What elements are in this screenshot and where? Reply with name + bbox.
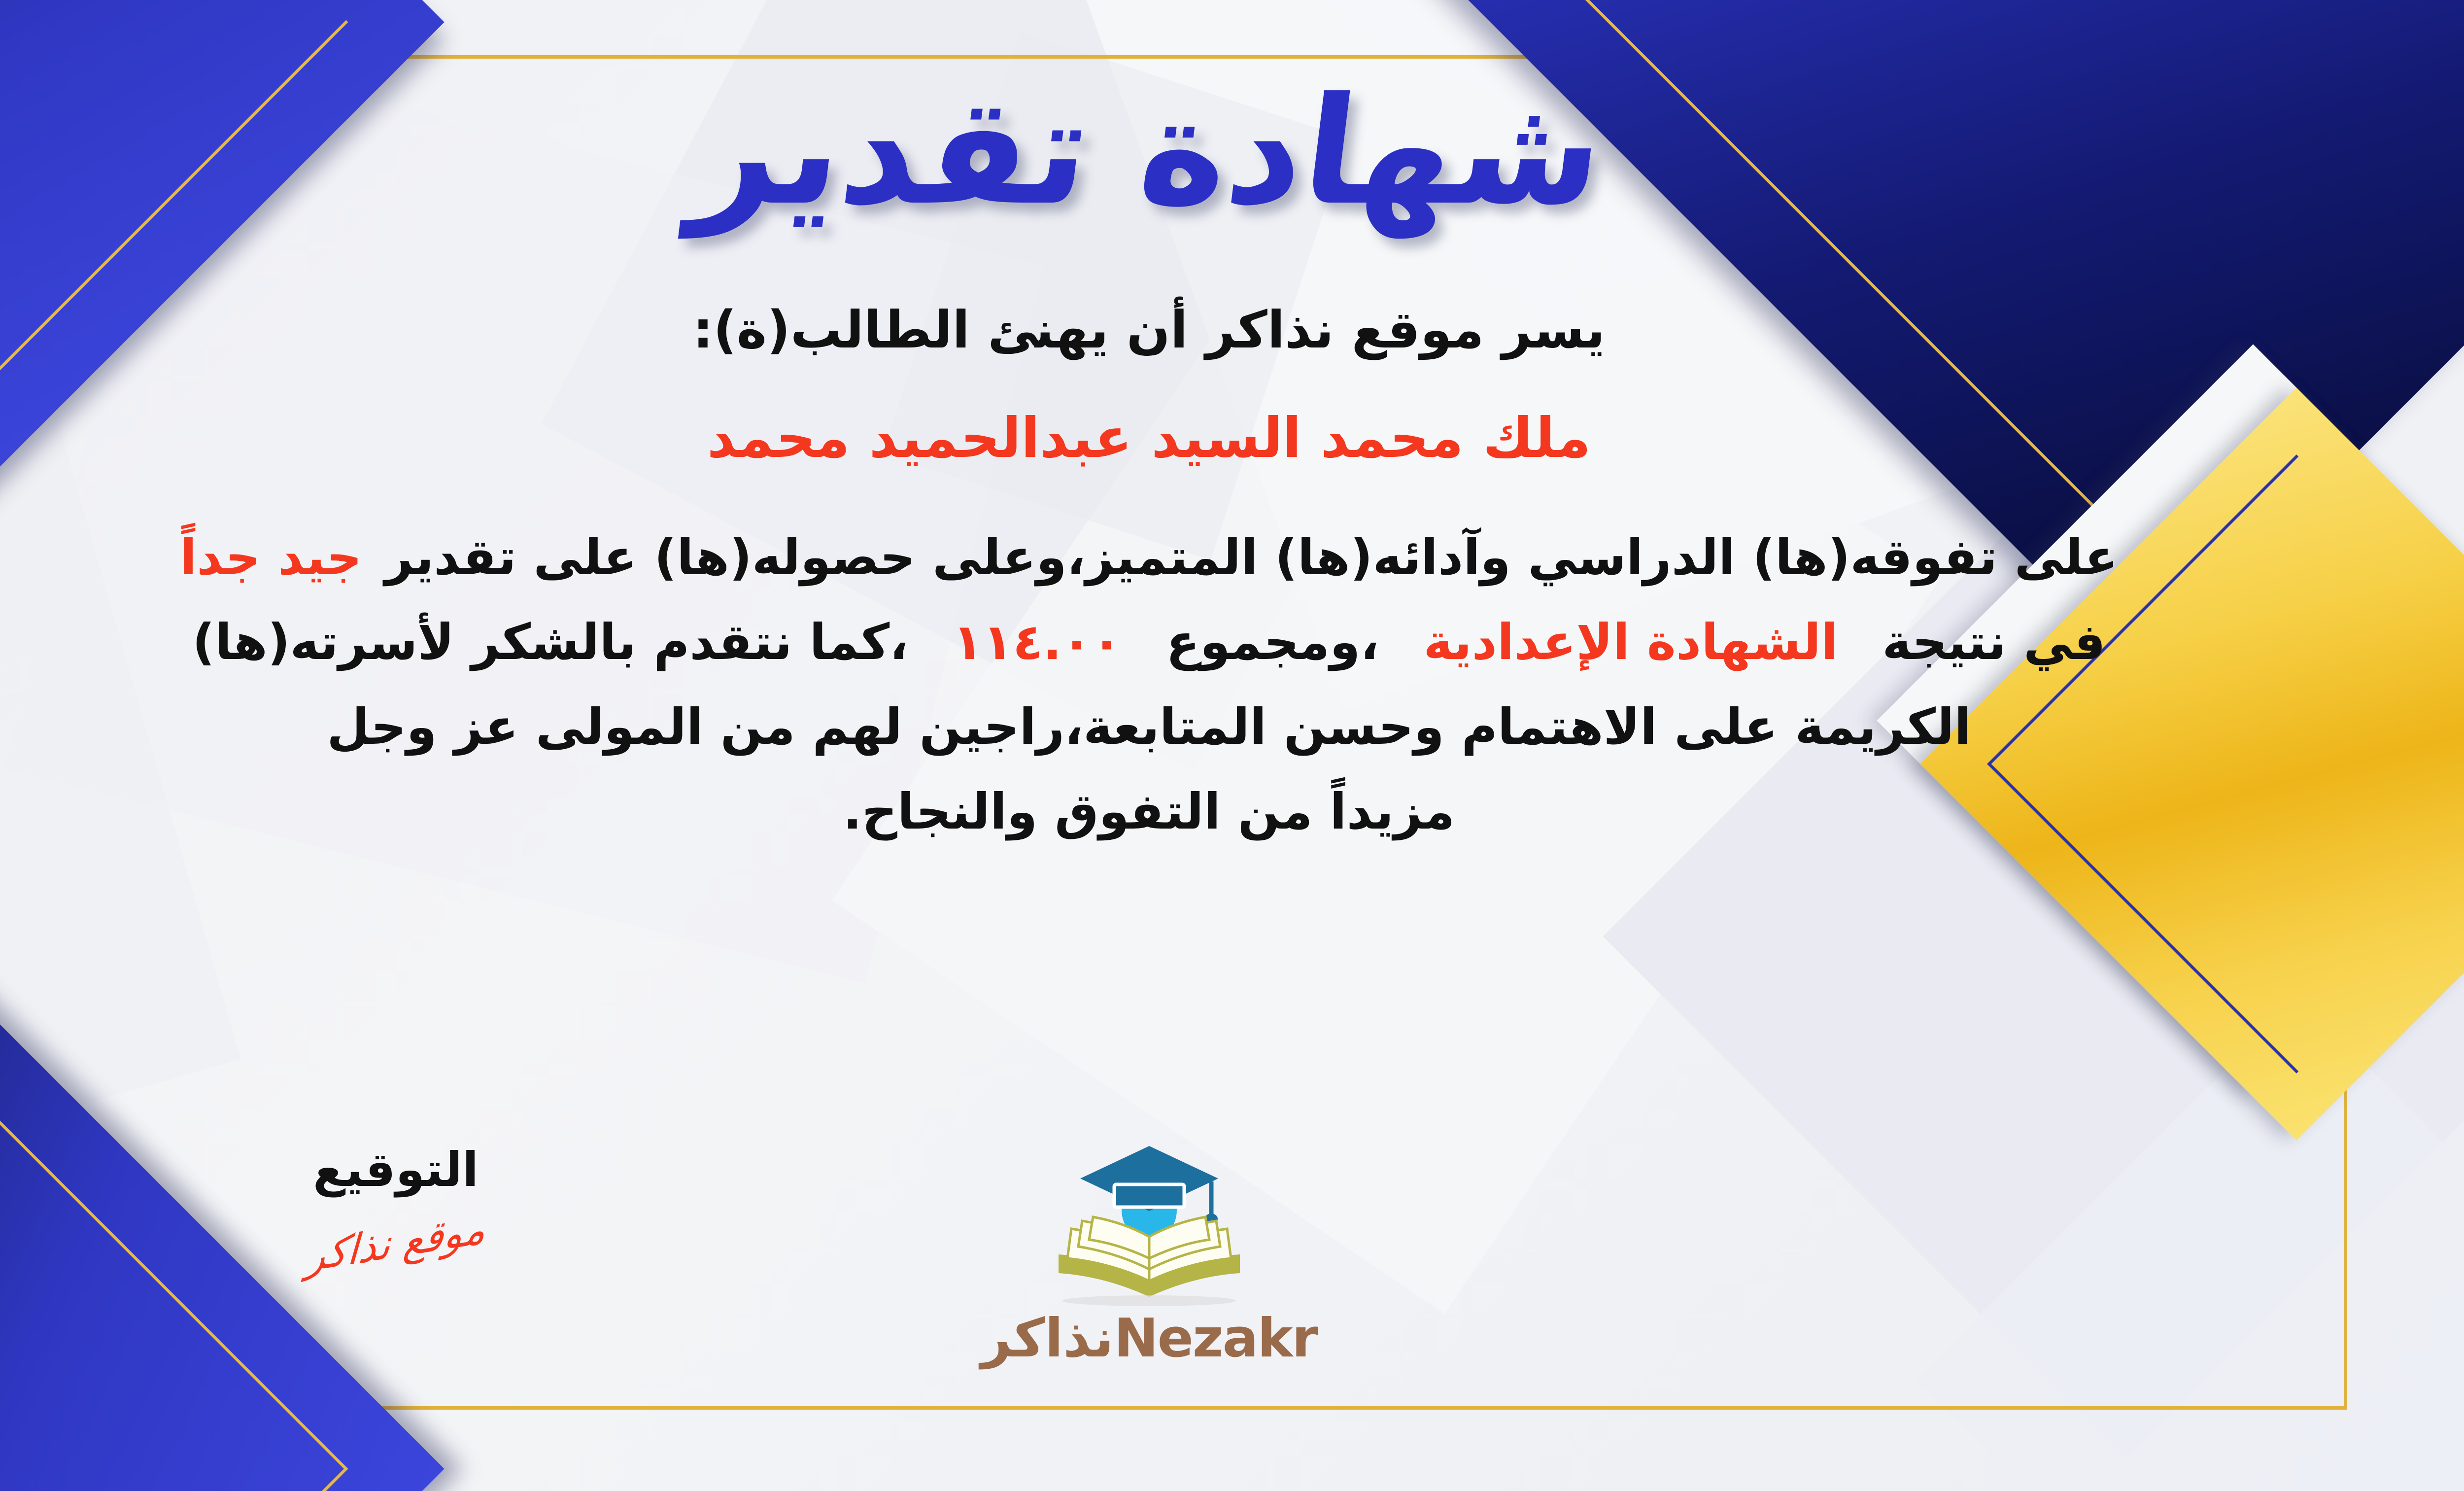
certificate-canvas: شهادة تقدير يسر موقع نذاكر أن يهنئ الطال… <box>0 0 2464 1491</box>
paragraph-line-2: في نتيجةالشهادة الإعدادية،ومجموع١١٤.٠٠،ك… <box>26 600 2273 685</box>
signature-mark: موقع نذاكر <box>305 1205 487 1282</box>
logo-graphic <box>1011 1127 1287 1310</box>
paragraph-text-1a: على تفوقه(ها) الدراسي وآدائه(ها) المتميز… <box>385 528 2118 586</box>
logo-wordmark: Nezakrنذاكر <box>962 1308 1336 1369</box>
logo-wordmark-latin: Nezakr <box>1114 1308 1317 1369</box>
achievement-paragraph: على تفوقه(ها) الدراسي وآدائه(ها) المتميز… <box>26 515 2273 854</box>
signature-block: التوقيع موقع نذاكر <box>223 1142 568 1267</box>
certificate-body: يسر موقع نذاكر أن يهنئ الطالب(ة): ملك مح… <box>26 288 2273 854</box>
brand-logo: Nezakrنذاكر <box>962 1127 1336 1369</box>
grade-value: جيد جداً <box>180 528 362 586</box>
paragraph-text-2b: ،ومجموع <box>1166 613 1379 671</box>
paragraph-line-3: الكريمة على الاهتمام وحسن المتابعة،راجين… <box>26 685 2273 769</box>
student-name: ملك محمد السيد عبدالحميد محمد <box>26 394 2273 483</box>
signature-label: التوقيع <box>223 1142 568 1197</box>
paragraph-text-2a: في نتيجة <box>1882 613 2105 671</box>
total-score: ١١٤.٠٠ <box>953 613 1122 671</box>
certificate-title: شهادة تقدير <box>685 74 1612 229</box>
logo-wordmark-arabic: نذاكر <box>981 1308 1114 1369</box>
paragraph-text-2c: ،كما نتقدم بالشكر لأسرته(ها) <box>192 613 908 671</box>
paragraph-line-4: مزيداً من التفوق والنجاح. <box>26 769 2273 854</box>
greeting-line: يسر موقع نذاكر أن يهنئ الطالب(ة): <box>26 288 2273 371</box>
exam-name: الشهادة الإعدادية <box>1423 613 1838 671</box>
certificate-footer: التوقيع موقع نذاكر <box>0 1127 2464 1433</box>
paragraph-line-1: على تفوقه(ها) الدراسي وآدائه(ها) المتميز… <box>26 515 2273 600</box>
